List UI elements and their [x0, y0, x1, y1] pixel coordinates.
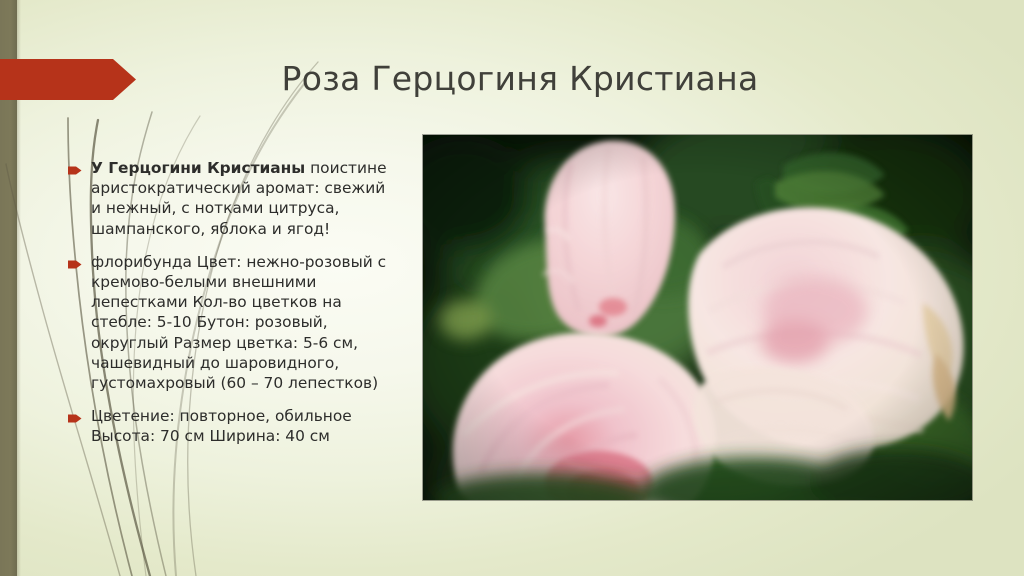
- arrow-banner: [0, 59, 136, 100]
- arrow-bullet-icon: [68, 413, 82, 424]
- list-item-text: У Герцогини Кристианы поистине аристокра…: [91, 158, 398, 239]
- list-item-body: флорибунда Цвет: нежно-розовый с кремово…: [91, 253, 386, 392]
- list-item: флорибунда Цвет: нежно-розовый с кремово…: [68, 252, 398, 393]
- arrow-bullet-icon: [68, 259, 82, 270]
- list-item-text: флорибунда Цвет: нежно-розовый с кремово…: [91, 252, 398, 393]
- list-item-text: Цветение: повторное, обильное Высота: 70…: [91, 406, 398, 446]
- page-title: Роза Герцогиня Кристиана: [150, 54, 890, 106]
- list-item: Цветение: повторное, обильное Высота: 70…: [68, 406, 398, 446]
- arrow-bullet-icon: [68, 165, 82, 176]
- bullet-list: У Герцогини Кристианы поистине аристокра…: [68, 158, 398, 447]
- list-item: У Герцогини Кристианы поистине аристокра…: [68, 158, 398, 239]
- slide: Роза Герцогиня Кристиана У Герцогини Кри…: [0, 0, 1024, 576]
- rose-photograph: [423, 135, 972, 500]
- list-item-body: Цветение: повторное, обильное Высота: 70…: [91, 407, 352, 445]
- list-item-lead: У Герцогини Кристианы: [91, 159, 305, 177]
